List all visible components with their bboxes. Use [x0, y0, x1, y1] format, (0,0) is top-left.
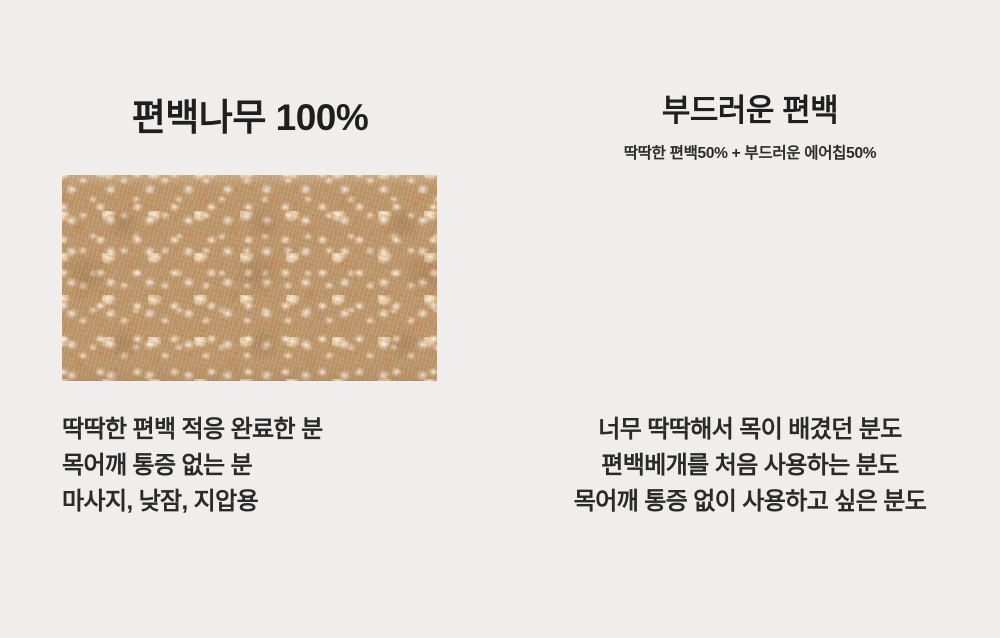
left-description-line-3: 마사지, 낮잠, 지압용	[62, 484, 323, 520]
photo-vignette	[62, 175, 437, 381]
right-description-line-1: 너무 딱딱해서 목이 배겼던 분도	[508, 412, 992, 448]
right-description-line-3: 목어깨 통증 없이 사용하고 싶은 분도	[508, 484, 992, 520]
right-description-line-2: 편백베개를 처음 사용하는 분도	[508, 448, 992, 484]
right-panel-description: 너무 딱딱해서 목이 배겼던 분도 편백베개를 처음 사용하는 분도 목어깨 통…	[508, 412, 992, 520]
right-panel-subtitle: 딱딱한 편백50% + 부드러운 에어칩50%	[500, 143, 1000, 165]
product-panel-left: 편백나무 100% 딱딱한 편백 적응 완료한 분 목어깨 통증 없는 분 마사…	[0, 0, 500, 638]
left-description-line-1: 딱딱한 편백 적응 완료한 분	[62, 412, 323, 448]
comparison-board: 편백나무 100% 딱딱한 편백 적응 완료한 분 목어깨 통증 없는 분 마사…	[0, 0, 1000, 638]
product-panel-right: 부드러운 편백 딱딱한 편백50% + 부드러운 에어칩50% 너무 딱딱해서 …	[500, 0, 1000, 638]
left-panel-title: 편백나무 100%	[0, 96, 500, 140]
right-panel-title: 부드러운 편백	[500, 92, 1000, 130]
left-product-photo	[62, 175, 437, 381]
left-panel-description: 딱딱한 편백 적응 완료한 분 목어깨 통증 없는 분 마사지, 낮잠, 지압용	[62, 412, 323, 520]
left-description-line-2: 목어깨 통증 없는 분	[62, 448, 323, 484]
